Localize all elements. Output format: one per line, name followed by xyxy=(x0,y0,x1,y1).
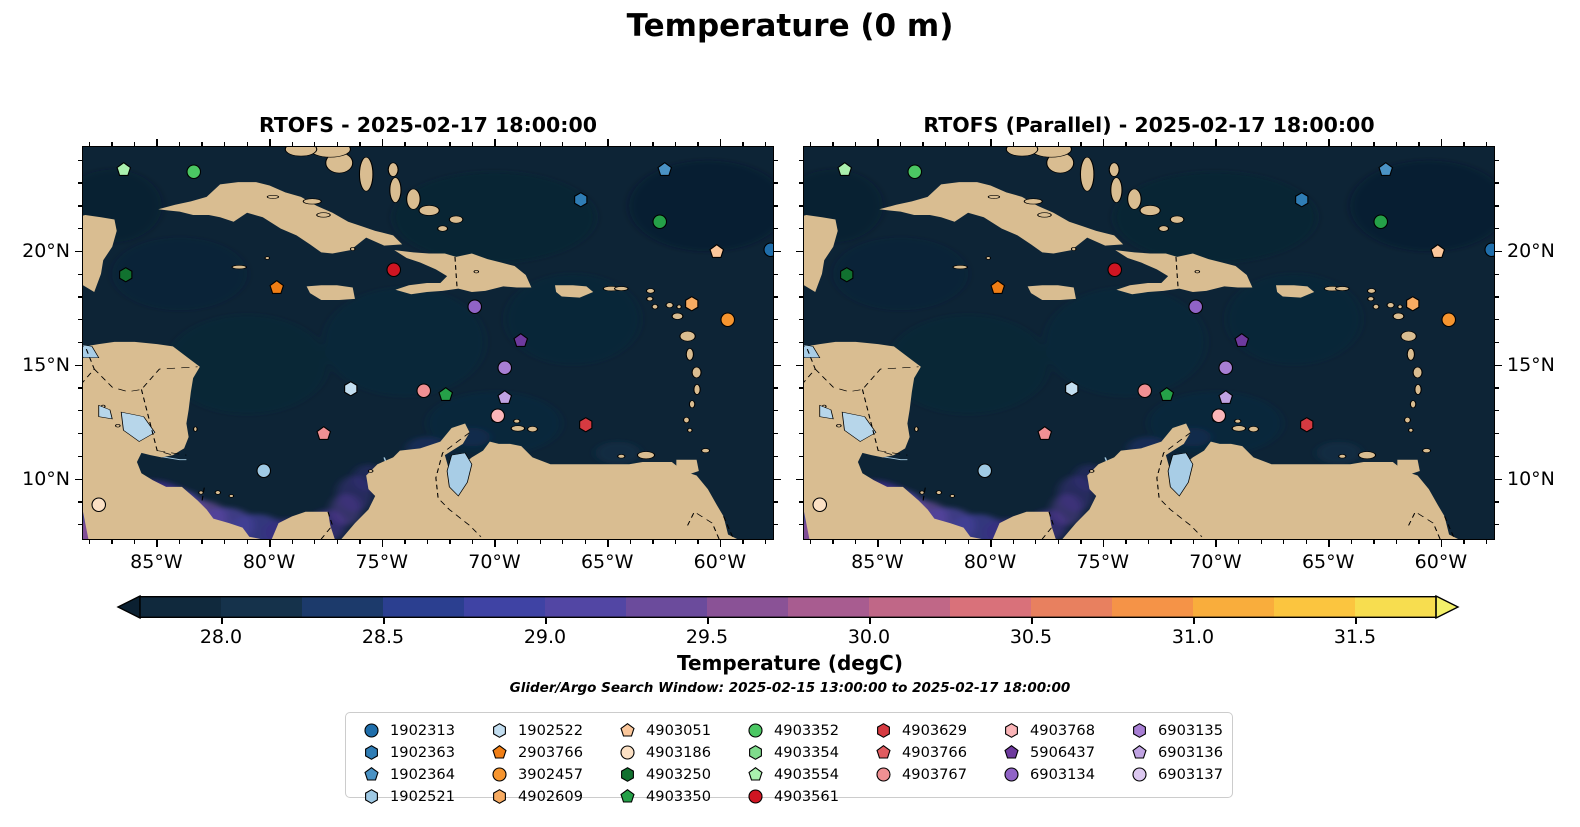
y-minor-tick-right xyxy=(774,319,778,320)
legend-entry-3902457[interactable]: 3902457 xyxy=(486,764,583,786)
legend-marker-icon xyxy=(358,745,384,760)
legend-label: 4903250 xyxy=(646,766,711,783)
x-minor-tick-top xyxy=(1373,142,1374,146)
y-minor-tick xyxy=(799,160,803,161)
x-major-tick xyxy=(720,540,722,547)
legend-marker-icon xyxy=(1126,767,1152,782)
x-minor-tick-top xyxy=(900,142,901,146)
x-minor-tick xyxy=(562,540,563,544)
colorbar-tick xyxy=(1193,618,1195,624)
y-minor-tick-right xyxy=(774,387,778,388)
float-marker-4903768[interactable] xyxy=(490,408,506,424)
x-minor-tick xyxy=(1306,540,1307,544)
legend-entry-4903561[interactable]: 4903561 xyxy=(742,785,839,807)
y-minor-tick-right xyxy=(774,433,778,434)
y-minor-tick xyxy=(799,410,803,411)
float-marker-6903134[interactable] xyxy=(1188,299,1204,315)
x-minor-tick xyxy=(1283,540,1284,544)
y-minor-tick xyxy=(799,433,803,434)
y-minor-tick xyxy=(799,524,803,525)
float-marker-4903250[interactable] xyxy=(118,267,134,283)
y-minor-tick-right xyxy=(774,296,778,297)
float-marker-2903766[interactable] xyxy=(269,280,285,296)
x-minor-tick xyxy=(585,540,586,544)
legend-marker-icon xyxy=(870,723,896,738)
x-minor-tick-top xyxy=(855,142,856,146)
legend-label: 4903186 xyxy=(646,744,711,761)
float-marker-6903134[interactable] xyxy=(467,299,483,315)
legend-marker-icon xyxy=(870,767,896,782)
y-minor-tick-right xyxy=(774,524,778,525)
legend-marker-icon xyxy=(614,789,640,804)
colorbar-gradient xyxy=(118,596,1458,618)
y-minor-tick xyxy=(78,274,82,275)
legend-entry-6903134[interactable]: 6903134 xyxy=(998,764,1095,786)
float-marker-4903352[interactable] xyxy=(186,164,202,180)
x-minor-tick-top xyxy=(922,142,923,146)
x-major-tick xyxy=(1328,540,1330,547)
y-minor-tick xyxy=(799,182,803,183)
y-minor-tick xyxy=(799,456,803,457)
x-minor-tick xyxy=(1080,540,1081,544)
x-minor-tick xyxy=(1013,540,1014,544)
colorbar-tick-label: 29.0 xyxy=(524,626,566,648)
float-marker-4903350[interactable] xyxy=(1373,214,1389,230)
x-minor-tick xyxy=(404,540,405,544)
x-minor-tick-top xyxy=(1035,142,1036,146)
colorbar-tick xyxy=(221,618,223,624)
y-minor-tick xyxy=(78,456,82,457)
x-minor-tick-top xyxy=(1351,142,1352,146)
x-minor-tick-top xyxy=(224,142,225,146)
x-minor-tick xyxy=(1463,540,1464,544)
legend-entry-4903767[interactable]: 4903767 xyxy=(870,764,967,786)
x-minor-tick-top xyxy=(697,142,698,146)
float-marker-6903135[interactable] xyxy=(497,360,513,376)
float-marker-4903051[interactable] xyxy=(709,244,725,260)
y-tick-label: 10°N xyxy=(2,468,70,490)
x-minor-tick xyxy=(1170,540,1171,544)
y-minor-tick xyxy=(78,501,82,502)
y-tick-label: 15°N xyxy=(2,354,70,376)
legend-marker-icon xyxy=(998,723,1024,738)
x-tick-label: 75°W xyxy=(1077,551,1129,573)
float-marker-4903554[interactable] xyxy=(116,162,132,178)
x-minor-tick xyxy=(427,540,428,544)
y-minor-tick xyxy=(78,524,82,525)
float-marker-4903561[interactable] xyxy=(386,262,402,278)
x-minor-tick xyxy=(247,540,248,544)
map-panel-rtofs-parallel[interactable] xyxy=(803,146,1495,540)
y-major-tick xyxy=(75,479,82,481)
float-marker-4903768[interactable] xyxy=(1211,408,1227,424)
x-minor-tick-top xyxy=(179,142,180,146)
y-minor-tick-right xyxy=(774,274,778,275)
legend-column: 1902313190236319023641902521 xyxy=(358,720,455,807)
y-minor-tick-right xyxy=(1495,228,1499,229)
x-minor-tick xyxy=(359,540,360,544)
x-minor-tick xyxy=(742,540,743,544)
x-minor-tick-top xyxy=(630,142,631,146)
float-marker-1902521[interactable] xyxy=(256,463,272,479)
float-marker-1902522[interactable] xyxy=(343,381,359,397)
float-marker-3902457[interactable] xyxy=(720,312,736,328)
legend-label: 4903767 xyxy=(902,766,967,783)
x-major-tick-top xyxy=(1103,139,1105,146)
legend-entry-4903186[interactable]: 4903186 xyxy=(614,742,711,764)
colorbar-title: Temperature (degC) xyxy=(0,651,1580,675)
x-minor-tick-top xyxy=(1193,142,1194,146)
x-minor-tick xyxy=(1486,540,1487,544)
y-major-tick-right xyxy=(1495,365,1502,367)
legend-marker-icon xyxy=(1126,745,1152,760)
legend-marker-icon xyxy=(870,745,896,760)
x-minor-tick-top xyxy=(427,142,428,146)
x-minor-tick xyxy=(810,540,811,544)
legend-marker-icon xyxy=(742,745,768,760)
legend-label: 2903766 xyxy=(518,744,583,761)
x-minor-tick-top xyxy=(1148,142,1149,146)
x-minor-tick xyxy=(540,540,541,544)
x-major-tick-top xyxy=(1215,139,1217,146)
y-minor-tick-right xyxy=(1495,319,1499,320)
x-minor-tick-top xyxy=(1396,142,1397,146)
y-minor-tick-right xyxy=(774,410,778,411)
x-minor-tick-top xyxy=(1013,142,1014,146)
legend-column: 1902522290376639024574902609 xyxy=(486,720,583,807)
y-major-tick-right xyxy=(774,365,781,367)
float-marker-2903766[interactable] xyxy=(990,280,1006,296)
legend-label: 1902522 xyxy=(518,722,583,739)
legend-entry-1902364[interactable]: 1902364 xyxy=(358,764,455,786)
x-tick-label: 65°W xyxy=(581,551,633,573)
x-major-tick-top xyxy=(877,139,879,146)
float-marker-1902364[interactable] xyxy=(1378,162,1394,178)
y-minor-tick xyxy=(78,342,82,343)
legend-label: 5906437 xyxy=(1030,744,1095,761)
sst-field xyxy=(804,147,1494,539)
x-minor-tick xyxy=(1351,540,1352,544)
legend-label: 4903352 xyxy=(774,722,839,739)
float-marker-4903186[interactable] xyxy=(91,497,107,513)
legend-entry-4903051[interactable]: 4903051 xyxy=(614,720,711,742)
x-minor-tick-top xyxy=(945,142,946,146)
legend-marker-icon xyxy=(1126,723,1152,738)
colorbar-tick xyxy=(869,618,871,624)
y-minor-tick-right xyxy=(1495,456,1499,457)
float-marker-4903767[interactable] xyxy=(416,383,432,399)
x-major-tick xyxy=(494,540,496,547)
legend-label: 4903051 xyxy=(646,722,711,739)
y-minor-tick-right xyxy=(774,501,778,502)
x-minor-tick-top xyxy=(201,142,202,146)
y-minor-tick-right xyxy=(1495,296,1499,297)
legend-column: 690313569031366903137 xyxy=(1126,720,1223,807)
y-tick-label: 20°N xyxy=(2,240,70,262)
x-major-tick-top xyxy=(1441,139,1443,146)
legend-label: 4902609 xyxy=(518,788,583,805)
float-marker-6903136[interactable] xyxy=(1218,390,1234,406)
legend-marker-icon xyxy=(614,767,640,782)
x-minor-tick xyxy=(968,540,969,544)
y-minor-tick xyxy=(78,205,82,206)
float-marker-4903350[interactable] xyxy=(652,214,668,230)
float-marker-4903766[interactable] xyxy=(316,426,332,442)
float-marker-1902363[interactable] xyxy=(573,192,589,208)
x-minor-tick xyxy=(1193,540,1194,544)
x-minor-tick-top xyxy=(134,142,135,146)
legend-entry-4903766[interactable]: 4903766 xyxy=(870,742,967,764)
y-minor-tick-right xyxy=(774,182,778,183)
x-minor-tick xyxy=(337,540,338,544)
float-marker-4902609[interactable] xyxy=(1405,296,1421,312)
legend-entry-4903554[interactable]: 4903554 xyxy=(742,764,839,786)
legend-entry-2903766[interactable]: 2903766 xyxy=(486,742,583,764)
y-minor-tick-right xyxy=(1495,182,1499,183)
x-minor-tick xyxy=(1396,540,1397,544)
figure-canvas: Temperature (0 m) RTOFS - 2025-02-17 18:… xyxy=(0,0,1580,827)
colorbar-tick-label: 28.5 xyxy=(362,626,404,648)
y-minor-tick-right xyxy=(774,342,778,343)
colorbar-tick-label: 29.5 xyxy=(686,626,728,648)
y-minor-tick-right xyxy=(774,456,778,457)
y-tick-label: 20°N xyxy=(1507,240,1555,262)
y-minor-tick-right xyxy=(1495,342,1499,343)
float-marker-6903136[interactable] xyxy=(497,390,513,406)
y-minor-tick-right xyxy=(1495,433,1499,434)
x-minor-tick xyxy=(1058,540,1059,544)
x-minor-tick-top xyxy=(314,142,315,146)
colorbar-tick-label: 31.5 xyxy=(1334,626,1376,648)
float-marker-4903350[interactable] xyxy=(1159,387,1175,403)
legend-label: 4903350 xyxy=(646,788,711,805)
legend-label: 6903134 xyxy=(1030,766,1095,783)
x-major-tick xyxy=(382,540,384,547)
x-minor-tick-top xyxy=(742,142,743,146)
legend-label: 4903768 xyxy=(1030,722,1095,739)
x-minor-tick-top xyxy=(89,142,90,146)
float-marker-4903186[interactable] xyxy=(812,497,828,513)
y-minor-tick xyxy=(78,160,82,161)
x-major-tick xyxy=(877,540,879,547)
x-tick-label: 70°W xyxy=(1189,551,1241,573)
x-minor-tick xyxy=(855,540,856,544)
y-minor-tick-right xyxy=(1495,160,1499,161)
x-minor-tick xyxy=(652,540,653,544)
x-minor-tick xyxy=(224,540,225,544)
colorbar-tick xyxy=(1031,618,1033,624)
y-minor-tick xyxy=(78,410,82,411)
legend-label: 3902457 xyxy=(518,766,583,783)
legend-label: 6903137 xyxy=(1158,766,1223,783)
x-minor-tick-top xyxy=(359,142,360,146)
float-marker-1902364[interactable] xyxy=(657,162,673,178)
float-marker-4903352[interactable] xyxy=(907,164,923,180)
legend-entry-empty xyxy=(1126,785,1223,807)
y-minor-tick xyxy=(799,342,803,343)
search-window-caption: Glider/Argo Search Window: 2025-02-15 13… xyxy=(0,680,1580,696)
x-major-tick-top xyxy=(382,139,384,146)
legend-entry-1902522[interactable]: 1902522 xyxy=(486,720,583,742)
x-minor-tick-top xyxy=(562,142,563,146)
y-minor-tick-right xyxy=(1495,387,1499,388)
float-marker-4903766[interactable] xyxy=(1037,426,1053,442)
float-marker-1902363[interactable] xyxy=(1294,192,1310,208)
float-id-legend[interactable]: 1902313190236319023641902521190252229037… xyxy=(345,712,1233,798)
x-tick-label: 75°W xyxy=(356,551,408,573)
x-minor-tick xyxy=(111,540,112,544)
y-major-tick-right xyxy=(1495,479,1502,481)
legend-label: 4903766 xyxy=(902,744,967,761)
y-minor-tick xyxy=(799,501,803,502)
legend-entry-5906437[interactable]: 5906437 xyxy=(998,742,1095,764)
x-minor-tick xyxy=(517,540,518,544)
legend-entry-1902521[interactable]: 1902521 xyxy=(358,785,455,807)
x-minor-tick-top xyxy=(1238,142,1239,146)
legend-column: 4903051490318649032504903350 xyxy=(614,720,711,807)
x-tick-label: 60°W xyxy=(694,551,746,573)
y-major-tick-right xyxy=(1495,251,1502,253)
legend-entry-4903352[interactable]: 4903352 xyxy=(742,720,839,742)
x-minor-tick xyxy=(201,540,202,544)
float-marker-1902522[interactable] xyxy=(1064,381,1080,397)
colorbar-tick xyxy=(383,618,385,624)
legend-marker-icon xyxy=(486,745,512,760)
legend-label: 4903561 xyxy=(774,788,839,805)
x-minor-tick xyxy=(134,540,135,544)
legend-entry-6903136[interactable]: 6903136 xyxy=(1126,742,1223,764)
y-minor-tick-right xyxy=(774,228,778,229)
legend-label: 1902363 xyxy=(390,744,455,761)
figure-suptitle: Temperature (0 m) xyxy=(0,8,1580,44)
x-major-tick xyxy=(1215,540,1217,547)
x-minor-tick-top xyxy=(585,142,586,146)
y-minor-tick-right xyxy=(1495,410,1499,411)
y-minor-tick xyxy=(78,296,82,297)
legend-entry-1902313[interactable]: 1902313 xyxy=(358,720,455,742)
y-tick-label: 15°N xyxy=(1507,354,1555,376)
float-marker-5906437[interactable] xyxy=(1234,333,1250,349)
x-minor-tick xyxy=(1148,540,1149,544)
x-minor-tick-top xyxy=(968,142,969,146)
float-marker-1902521[interactable] xyxy=(977,463,993,479)
panel-title-rtofs-parallel: RTOFS (Parallel) - 2025-02-17 18:00:00 xyxy=(803,113,1495,137)
float-marker-1902313[interactable] xyxy=(1484,242,1495,258)
x-minor-tick xyxy=(630,540,631,544)
x-minor-tick xyxy=(1373,540,1374,544)
x-major-tick-top xyxy=(1328,139,1330,146)
legend-entry-empty xyxy=(870,785,967,807)
x-tick-label: 65°W xyxy=(1302,551,1354,573)
legend-entry-1902363[interactable]: 1902363 xyxy=(358,742,455,764)
y-major-tick xyxy=(796,251,803,253)
legend-entry-4903768[interactable]: 4903768 xyxy=(998,720,1095,742)
legend-entry-6903137[interactable]: 6903137 xyxy=(1126,764,1223,786)
y-minor-tick xyxy=(799,319,803,320)
colorbar-tick xyxy=(1355,618,1357,624)
legend-entry-6903135[interactable]: 6903135 xyxy=(1126,720,1223,742)
legend-label: 1902364 xyxy=(390,766,455,783)
legend-label: 4903629 xyxy=(902,722,967,739)
x-major-tick xyxy=(990,540,992,547)
x-major-tick-top xyxy=(720,139,722,146)
float-marker-4903051[interactable] xyxy=(1430,244,1446,260)
legend-entry-4903350[interactable]: 4903350 xyxy=(614,785,711,807)
float-marker-4903561[interactable] xyxy=(1107,262,1123,278)
x-major-tick-top xyxy=(269,139,271,146)
float-marker-4903350[interactable] xyxy=(438,387,454,403)
y-minor-tick xyxy=(799,228,803,229)
colorbar-tick-label: 28.0 xyxy=(200,626,242,648)
x-minor-tick xyxy=(314,540,315,544)
y-major-tick xyxy=(75,251,82,253)
float-marker-6903135[interactable] xyxy=(1218,360,1234,376)
x-minor-tick xyxy=(922,540,923,544)
map-panel-rtofs[interactable] xyxy=(82,146,774,540)
float-marker-4903767[interactable] xyxy=(1137,383,1153,399)
legend-column: 4903352490335449035544903561 xyxy=(742,720,839,807)
float-marker-5906437[interactable] xyxy=(513,333,529,349)
float-marker-4903629[interactable] xyxy=(578,417,594,433)
colorbar-tick-label: 30.0 xyxy=(848,626,890,648)
y-minor-tick-right xyxy=(1495,274,1499,275)
legend-label: 6903135 xyxy=(1158,722,1223,739)
float-marker-4903629[interactable] xyxy=(1299,417,1315,433)
legend-entry-4902609[interactable]: 4902609 xyxy=(486,785,583,807)
x-minor-tick-top xyxy=(1463,142,1464,146)
float-marker-4902609[interactable] xyxy=(684,296,700,312)
x-major-tick xyxy=(1441,540,1443,547)
legend-label: 6903136 xyxy=(1158,744,1223,761)
y-tick-label: 10°N xyxy=(1507,468,1555,490)
y-major-tick-right xyxy=(774,479,781,481)
legend-entry-4903354[interactable]: 4903354 xyxy=(742,742,839,764)
x-major-tick xyxy=(269,540,271,547)
colorbar-tick-label: 31.0 xyxy=(1172,626,1214,648)
y-major-tick xyxy=(796,479,803,481)
legend-label: 1902313 xyxy=(390,722,455,739)
legend-marker-icon xyxy=(486,767,512,782)
legend-entry-4903250[interactable]: 4903250 xyxy=(614,764,711,786)
x-tick-label: 85°W xyxy=(851,551,903,573)
x-major-tick-top xyxy=(607,139,609,146)
x-minor-tick-top xyxy=(1261,142,1262,146)
x-minor-tick xyxy=(945,540,946,544)
x-minor-tick-top xyxy=(404,142,405,146)
x-minor-tick-top xyxy=(1058,142,1059,146)
float-marker-4903554[interactable] xyxy=(837,162,853,178)
legend-marker-icon xyxy=(358,767,384,782)
legend-entry-4903629[interactable]: 4903629 xyxy=(870,720,967,742)
legend-marker-icon xyxy=(486,723,512,738)
x-minor-tick xyxy=(1418,540,1419,544)
colorbar[interactable] xyxy=(118,596,1458,618)
y-minor-tick xyxy=(799,387,803,388)
legend-entry-empty xyxy=(998,785,1095,807)
x-minor-tick xyxy=(449,540,450,544)
y-minor-tick xyxy=(78,228,82,229)
legend-column: 490376859064376903134 xyxy=(998,720,1095,807)
legend-marker-icon xyxy=(742,767,768,782)
y-minor-tick xyxy=(78,387,82,388)
float-marker-3902457[interactable] xyxy=(1441,312,1457,328)
y-minor-tick xyxy=(799,274,803,275)
float-marker-1902313[interactable] xyxy=(763,242,774,258)
x-minor-tick-top xyxy=(292,142,293,146)
x-minor-tick xyxy=(697,540,698,544)
x-major-tick xyxy=(1103,540,1105,547)
float-marker-4903250[interactable] xyxy=(839,267,855,283)
